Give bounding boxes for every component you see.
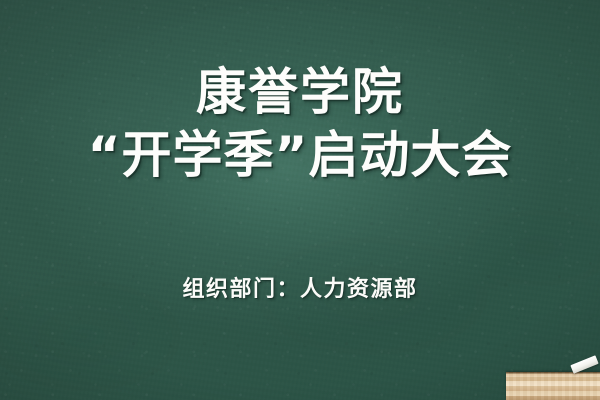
slide-text-block: 康誉学院 “开学季”启动大会 组织部门：人力资源部	[0, 0, 600, 400]
presentation-slide: 康誉学院 “开学季”启动大会 组织部门：人力资源部	[0, 0, 600, 400]
slide-subtitle: 组织部门：人力资源部	[0, 275, 600, 305]
slide-title-line-2: “开学季”启动大会	[0, 127, 600, 183]
chalk-ledge	[506, 372, 600, 400]
slide-title-line-1: 康誉学院	[0, 64, 600, 120]
